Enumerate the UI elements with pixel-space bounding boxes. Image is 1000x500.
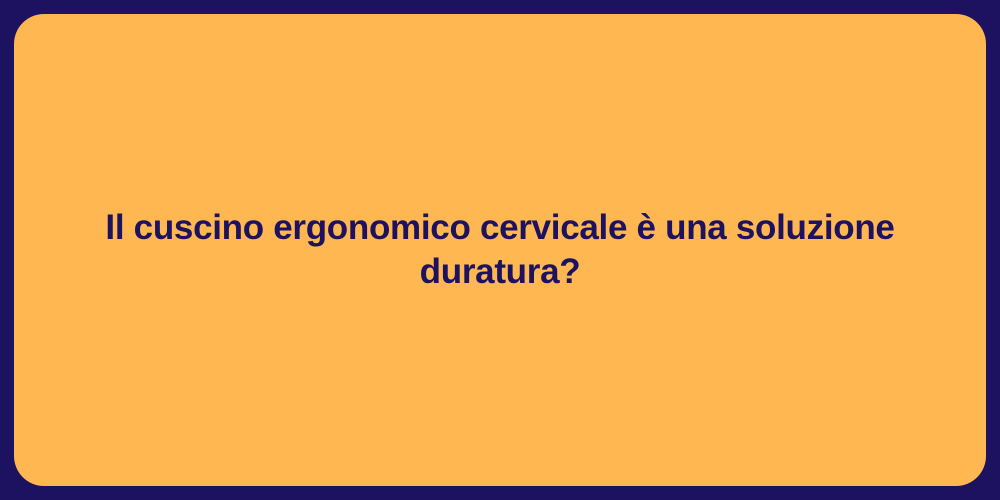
- page-title: Il cuscino ergonomico cervicale è una so…: [74, 206, 926, 294]
- card-frame: Il cuscino ergonomico cervicale è una so…: [0, 0, 1000, 500]
- card-panel: Il cuscino ergonomico cervicale è una so…: [14, 14, 986, 486]
